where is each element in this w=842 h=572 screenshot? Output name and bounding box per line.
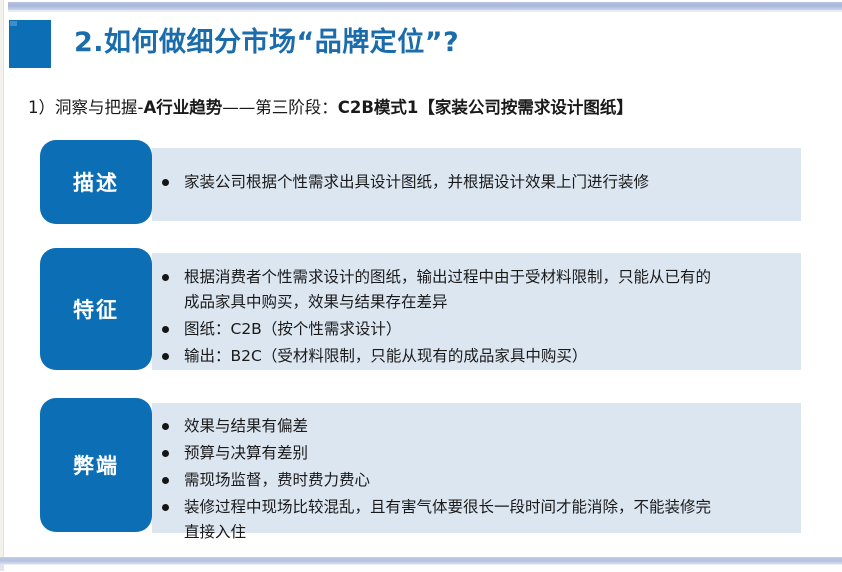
bullet-line: 装修过程中现场比较混乱，且有害气体要很长一段时间才能消除，不能装修完 [184,495,787,520]
list-item: 效果与结果有偏差 [152,414,787,439]
subtitle-middle: ——第三阶段： [222,98,338,117]
slide-root: 2.如何做细分市场“品牌定位”? 1）洞察与把握-A行业趋势——第三阶段：C2B… [0,0,842,571]
title-accent-square [9,20,51,68]
slide-subtitle: 1）洞察与把握-A行业趋势——第三阶段：C2B模式1【家装公司按需求设计图纸】 [28,96,633,120]
top-divider-shadow [8,10,842,12]
list-item: 输出：B2C（受材料限制，只能从现有的成品家具中购买） [152,344,787,369]
list-item: 根据消费者个性需求设计的图纸，输出过程中由于受材料限制，只能从已有的 成品家具中… [152,265,787,315]
subtitle-bold-industry: A行业趋势 [143,98,222,117]
list-item: 需现场监督，费时费力费心 [152,468,787,493]
section-description-body: 家装公司根据个性需求出具设计图纸，并根据设计效果上门进行装修 [152,148,801,221]
bottom-divider-bar [0,557,842,564]
subtitle-bold-mode: C2B模式1【家装公司按需求设计图纸】 [338,98,633,117]
bullet-line-cont: 成品家具中购买，效果与结果存在差异 [184,290,787,315]
bullet-line-cont: 直接入住 [184,520,787,545]
section-features-bullets: 根据消费者个性需求设计的图纸，输出过程中由于受材料限制，只能从已有的 成品家具中… [152,265,787,369]
bullet-line: 输出：B2C（受材料限制，只能从现有的成品家具中购买） [184,344,787,369]
slide-title-row: 2.如何做细分市场“品牌定位”? [0,20,842,68]
bullet-line: 图纸：C2B（按个性需求设计） [184,317,787,342]
list-item: 预算与决算有差别 [152,441,787,466]
section-features-label: 特征 [40,248,152,370]
section-features-body: 根据消费者个性需求设计的图纸，输出过程中由于受材料限制，只能从已有的 成品家具中… [152,253,801,370]
section-description-bullets: 家装公司根据个性需求出具设计图纸，并根据设计效果上门进行装修 [152,170,787,195]
bullet-line: 需现场监督，费时费力费心 [184,468,787,493]
bullet-line: 家装公司根据个性需求出具设计图纸，并根据设计效果上门进行装修 [184,170,787,195]
left-edge-strip [0,0,4,571]
list-item: 家装公司根据个性需求出具设计图纸，并根据设计效果上门进行装修 [152,170,787,195]
bottom-left-tick [0,564,4,571]
list-item: 装修过程中现场比较混乱，且有害气体要很长一段时间才能消除，不能装修完 直接入住 [152,495,787,545]
top-divider-bar [8,2,842,10]
list-item: 图纸：C2B（按个性需求设计） [152,317,787,342]
bullet-line: 根据消费者个性需求设计的图纸，输出过程中由于受材料限制，只能从已有的 [184,265,787,290]
bullet-line: 预算与决算有差别 [184,441,787,466]
subtitle-prefix: 1）洞察与把握- [28,98,143,117]
section-drawbacks-bullets: 效果与结果有偏差 预算与决算有差别 需现场监督，费时费力费心 装修过程中现场比较… [152,414,787,545]
section-drawbacks-body: 效果与结果有偏差 预算与决算有差别 需现场监督，费时费力费心 装修过程中现场比较… [152,403,801,533]
section-drawbacks-label: 弊端 [40,398,152,532]
section-description-label: 描述 [40,140,152,224]
page-title: 2.如何做细分市场“品牌定位”? [74,23,459,63]
bullet-line: 效果与结果有偏差 [184,414,787,439]
